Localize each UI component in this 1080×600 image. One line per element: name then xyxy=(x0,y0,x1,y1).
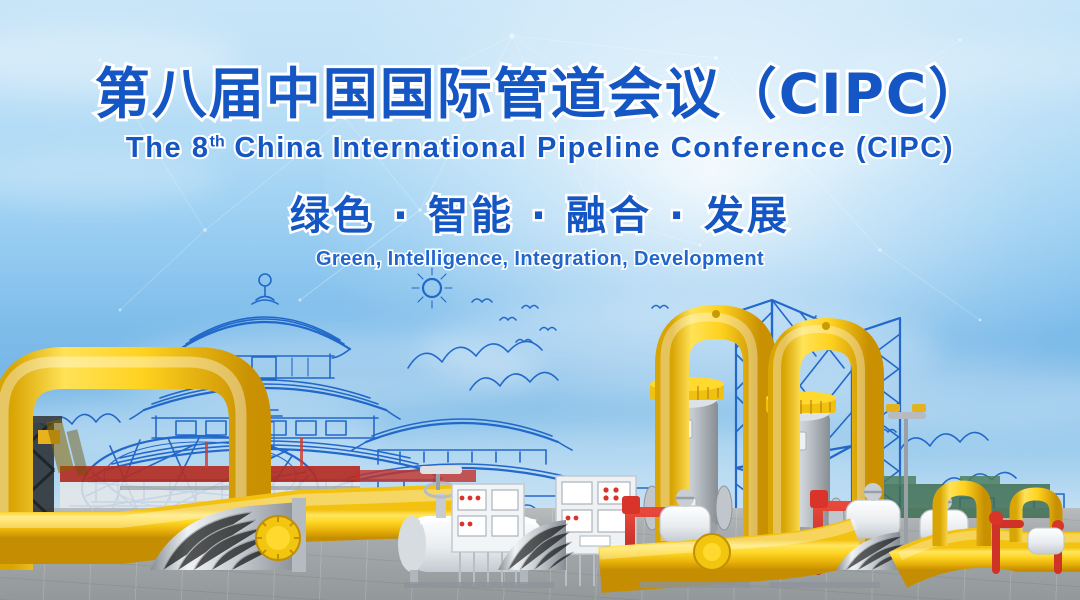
pipe-flange-wheel-2 xyxy=(694,534,730,570)
cipc-conference-banner: 第八届中国国际管道会议（CIPC） The 8th China Internat… xyxy=(0,0,1080,600)
pipe-flange-wheel xyxy=(256,516,300,560)
title-en-rest: China International Pipeline Conference … xyxy=(234,132,954,164)
conference-title-chinese: 第八届中国国际管道会议（CIPC） xyxy=(0,0,1080,127)
equipment-bases xyxy=(404,582,880,588)
conference-title-english: The 8th China International Pipeline Con… xyxy=(0,131,1080,166)
banner-text-block: 第八届中国国际管道会议（CIPC） The 8th China Internat… xyxy=(0,0,1080,271)
title-en-prefix: The 8 xyxy=(126,132,210,164)
ordinal-suffix: th xyxy=(210,133,225,150)
conference-theme-english: Green, Intelligence, Integration, Develo… xyxy=(0,247,1080,271)
pipeline-station-foreground xyxy=(0,270,1080,600)
conference-theme-chinese: 绿色 · 智能 · 融合 · 发展 xyxy=(0,192,1080,240)
